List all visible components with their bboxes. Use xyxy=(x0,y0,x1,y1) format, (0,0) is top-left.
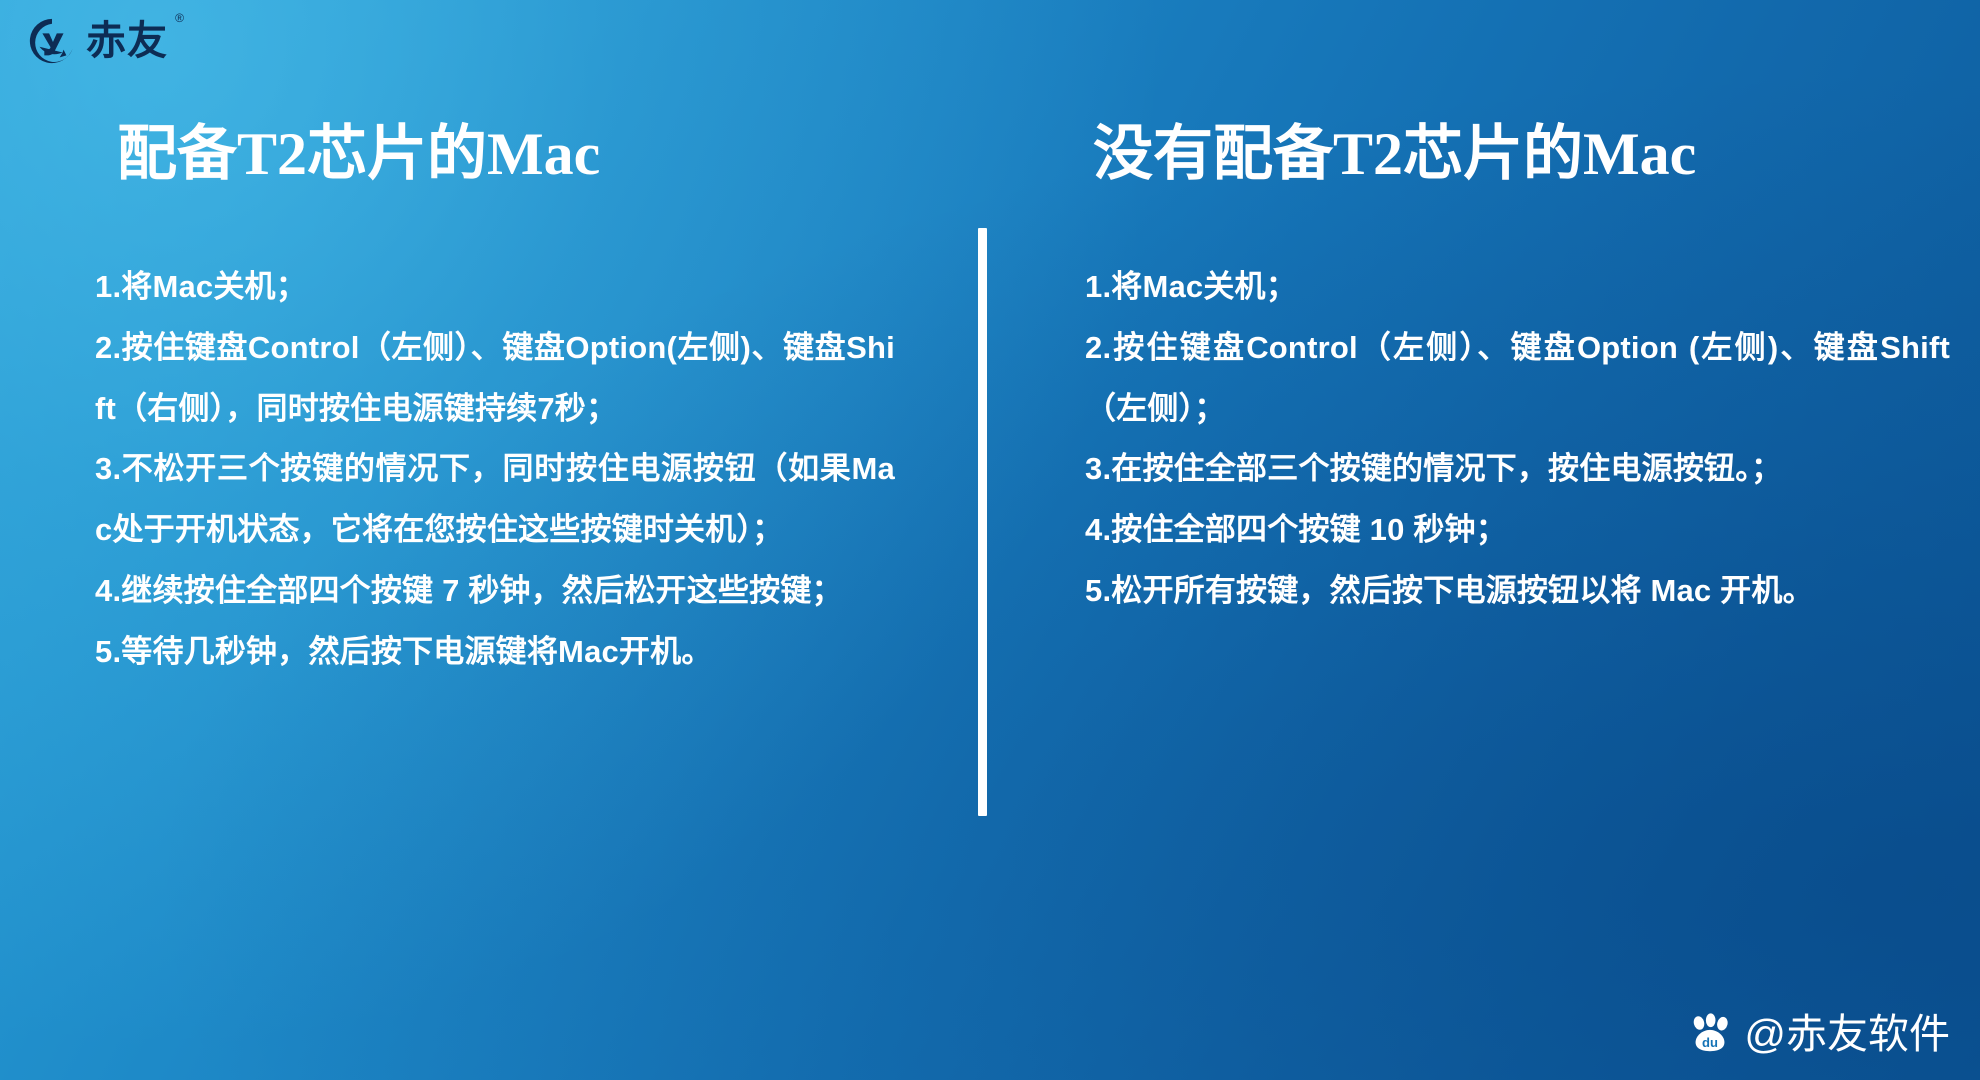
list-item: 5.等待几秒钟，然后按下电源键将Mac开机。 xyxy=(95,622,895,683)
list-item: 3.不松开三个按键的情况下，同时按住电源按钮（如果Mac处于开机状态，它将在您按… xyxy=(95,439,895,561)
list-item: 2.按住键盘Control（左侧）、键盘Option(左侧)、键盘Shift（右… xyxy=(95,318,895,440)
svg-text:du: du xyxy=(1702,1035,1718,1050)
column-t2-mac: 配备T2芯片的Mac 1.将Mac关机； 2.按住键盘Control（左侧）、键… xyxy=(95,120,895,682)
column-non-t2-mac: 没有配备T2芯片的Mac 1.将Mac关机； 2.按住键盘Control（左侧）… xyxy=(1085,120,1950,622)
column-title-t2-mac: 配备T2芯片的Mac xyxy=(95,120,895,189)
list-item: 4.继续按住全部四个按键 7 秒钟，然后松开这些按键； xyxy=(95,561,895,622)
steps-list-non-t2-mac: 1.将Mac关机； 2.按住键盘Control（左侧）、键盘Option (左侧… xyxy=(1085,257,1950,622)
baidu-paw-icon: du xyxy=(1688,1012,1732,1056)
steps-list-t2-mac: 1.将Mac关机； 2.按住键盘Control（左侧）、键盘Option(左侧)… xyxy=(95,257,895,682)
instruction-columns: 配备T2芯片的Mac 1.将Mac关机； 2.按住键盘Control（左侧）、键… xyxy=(0,0,1980,1080)
column-title-non-t2-mac: 没有配备T2芯片的Mac xyxy=(1085,120,1950,189)
list-item: 2.按住键盘Control（左侧）、键盘Option (左侧)、键盘Shift（… xyxy=(1085,318,1950,440)
list-item: 1.将Mac关机； xyxy=(95,257,895,318)
list-item: 1.将Mac关机； xyxy=(1085,257,1950,318)
watermark: du @赤友软件 xyxy=(1688,1012,1950,1056)
list-item: 4.按住全部四个按键 10 秒钟； xyxy=(1085,500,1950,561)
list-item: 3.在按住全部三个按键的情况下，按住电源按钮。； xyxy=(1085,439,1950,500)
watermark-text: @赤友软件 xyxy=(1744,1014,1950,1055)
slide-canvas: 赤友 ® 配备T2芯片的Mac 1.将Mac关机； 2.按住键盘Control（… xyxy=(0,0,1980,1080)
list-item: 5.松开所有按键，然后按下电源按钮以将 Mac 开机。 xyxy=(1085,561,1950,622)
